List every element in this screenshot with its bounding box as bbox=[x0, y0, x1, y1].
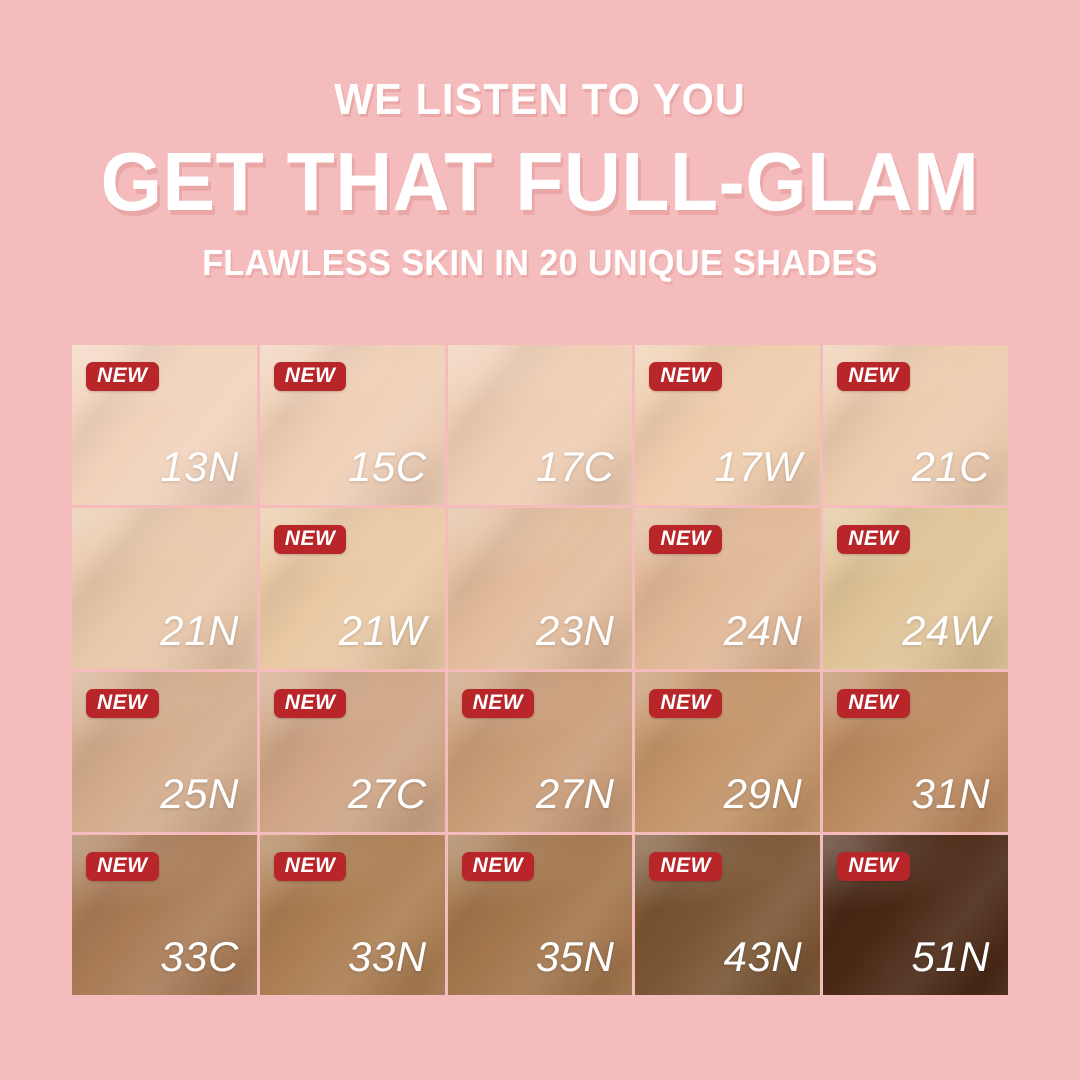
shade-code-label: 33C bbox=[160, 936, 239, 978]
new-badge: NEW bbox=[649, 689, 722, 718]
shade-swatch[interactable]: NEW21W bbox=[260, 508, 445, 668]
shade-swatch[interactable]: NEW31N bbox=[823, 672, 1008, 832]
new-badge: NEW bbox=[86, 852, 159, 881]
shade-swatch[interactable]: NEW13N bbox=[72, 345, 257, 505]
shade-swatch[interactable]: NEW21N bbox=[72, 508, 257, 668]
promo-header: WE LISTEN TO YOU GET THAT FULL-GLAM FLAW… bbox=[0, 0, 1080, 281]
shade-code-label: 29N bbox=[724, 773, 803, 815]
subtitle-text: FLAWLESS SKIN IN 20 UNIQUE SHADES bbox=[27, 245, 1053, 281]
shade-code-label: 35N bbox=[536, 936, 615, 978]
shade-swatch[interactable]: NEW29N bbox=[635, 672, 820, 832]
new-badge: NEW bbox=[462, 852, 535, 881]
new-badge: NEW bbox=[274, 525, 347, 554]
new-badge: NEW bbox=[837, 362, 910, 391]
new-badge: NEW bbox=[462, 689, 535, 718]
new-badge: NEW bbox=[86, 362, 159, 391]
shade-code-label: 21N bbox=[160, 610, 239, 652]
shade-code-label: 17C bbox=[536, 446, 615, 488]
eyebrow-text: WE LISTEN TO YOU bbox=[32, 78, 1047, 122]
shade-code-label: 17W bbox=[714, 446, 802, 488]
shade-code-label: 27N bbox=[536, 773, 615, 815]
shade-swatch[interactable]: NEW33N bbox=[260, 835, 445, 995]
shade-code-label: 33N bbox=[348, 936, 427, 978]
shade-swatch[interactable]: NEW17C bbox=[448, 345, 633, 505]
shade-code-label: 51N bbox=[911, 936, 990, 978]
new-badge: NEW bbox=[649, 852, 722, 881]
shade-swatch[interactable]: NEW17W bbox=[635, 345, 820, 505]
shade-code-label: 24W bbox=[902, 610, 990, 652]
shade-swatch[interactable]: NEW27C bbox=[260, 672, 445, 832]
shade-code-label: 27C bbox=[348, 773, 427, 815]
page-title: GET THAT FULL-GLAM bbox=[27, 140, 1053, 223]
shade-grid: NEW13NNEW15CNEW17CNEW17WNEW21CNEW21NNEW2… bbox=[72, 345, 1008, 995]
new-badge: NEW bbox=[837, 852, 910, 881]
shade-code-label: 25N bbox=[160, 773, 239, 815]
new-badge: NEW bbox=[837, 525, 910, 554]
shade-code-label: 31N bbox=[911, 773, 990, 815]
shade-swatch[interactable]: NEW33C bbox=[72, 835, 257, 995]
shade-code-label: 43N bbox=[724, 936, 803, 978]
shade-code-label: 24N bbox=[724, 610, 803, 652]
shade-code-label: 15C bbox=[348, 446, 427, 488]
shade-swatch[interactable]: NEW23N bbox=[448, 508, 633, 668]
shade-code-label: 21W bbox=[339, 610, 427, 652]
new-badge: NEW bbox=[274, 362, 347, 391]
shade-swatch[interactable]: NEW15C bbox=[260, 345, 445, 505]
shade-swatch[interactable]: NEW35N bbox=[448, 835, 633, 995]
shade-swatch[interactable]: NEW21C bbox=[823, 345, 1008, 505]
new-badge: NEW bbox=[274, 689, 347, 718]
new-badge: NEW bbox=[649, 525, 722, 554]
shade-swatch[interactable]: NEW43N bbox=[635, 835, 820, 995]
shade-swatch[interactable]: NEW24N bbox=[635, 508, 820, 668]
new-badge: NEW bbox=[86, 689, 159, 718]
shade-swatch[interactable]: NEW25N bbox=[72, 672, 257, 832]
shade-swatch[interactable]: NEW27N bbox=[448, 672, 633, 832]
shade-swatch[interactable]: NEW51N bbox=[823, 835, 1008, 995]
shade-swatch[interactable]: NEW24W bbox=[823, 508, 1008, 668]
shade-code-label: 13N bbox=[160, 446, 239, 488]
shade-code-label: 21C bbox=[911, 446, 990, 488]
new-badge: NEW bbox=[274, 852, 347, 881]
new-badge: NEW bbox=[837, 689, 910, 718]
new-badge: NEW bbox=[649, 362, 722, 391]
shade-code-label: 23N bbox=[536, 610, 615, 652]
